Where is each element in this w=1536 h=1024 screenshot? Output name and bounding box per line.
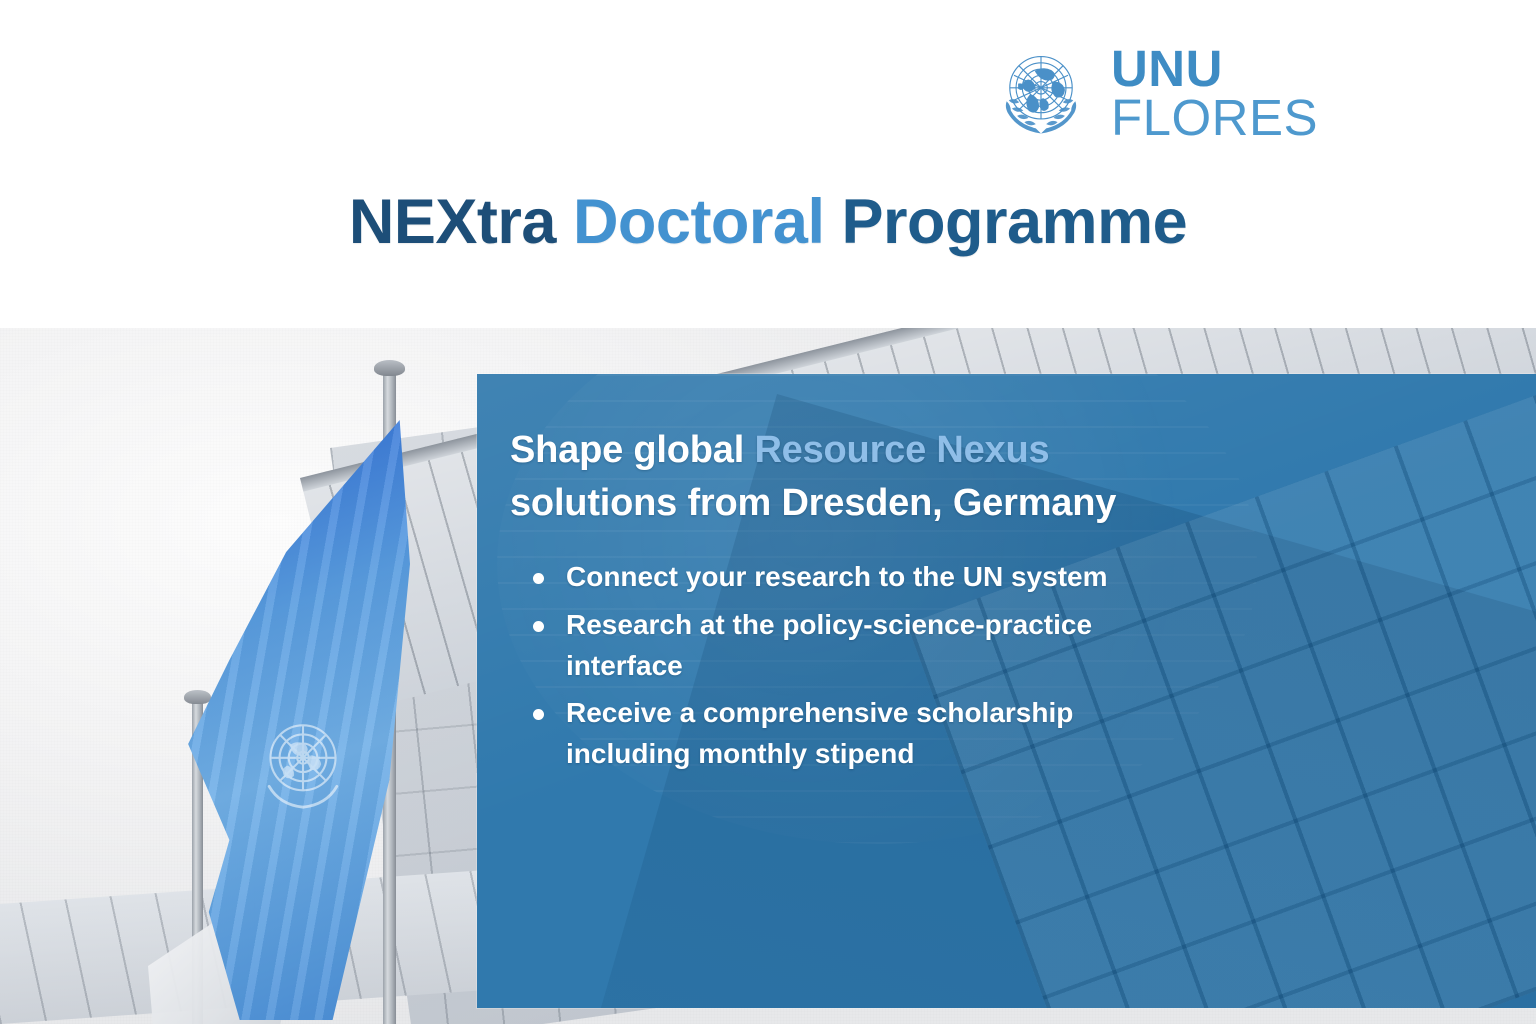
- headline-lead: Shape global: [510, 429, 754, 471]
- unu-flores-logo[interactable]: UNU FLORES: [989, 42, 1318, 146]
- title-part-doctoral: Doctoral: [573, 187, 825, 257]
- page-header: UNU FLORES NEXtra Doctoral Programme: [0, 0, 1536, 328]
- headline-accent: Resource Nexus: [754, 429, 1049, 471]
- logo-flores-text: FLORES: [1111, 94, 1318, 143]
- headline-tail: solutions from Dresden, Germany: [510, 482, 1116, 524]
- promotional-slide: Shape global Resource Nexus solutions fr…: [0, 0, 1536, 1024]
- title-part-nextra: NEXtra: [349, 187, 573, 257]
- benefits-list: Connect your research to the UN system R…: [510, 556, 1150, 774]
- list-item: Research at the policy-science-practice …: [510, 604, 1150, 686]
- un-flag-emblem-icon: [238, 698, 368, 828]
- panel-content: Shape global Resource Nexus solutions fr…: [510, 424, 1150, 780]
- logo-unu-text: UNU: [1111, 45, 1318, 94]
- main-flagpole-cap: [374, 360, 405, 376]
- secondary-flagpole-cap: [184, 690, 211, 704]
- title-part-programme: Programme: [824, 187, 1187, 257]
- un-emblem-icon: [989, 42, 1093, 146]
- panel-headline: Shape global Resource Nexus solutions fr…: [510, 424, 1150, 530]
- list-item: Receive a comprehensive scholarship incl…: [510, 692, 1150, 774]
- page-title: NEXtra Doctoral Programme: [0, 186, 1536, 258]
- logo-wordmark: UNU FLORES: [1111, 45, 1318, 143]
- list-item: Connect your research to the UN system: [510, 556, 1150, 597]
